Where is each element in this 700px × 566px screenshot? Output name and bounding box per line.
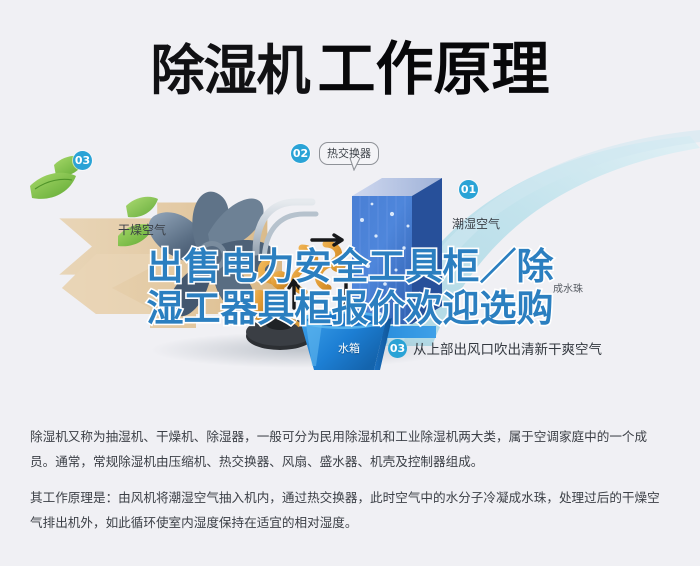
page-root: 除湿机工作原理 <box>0 0 700 566</box>
label-dry-air: 干燥空气 <box>118 221 166 238</box>
caption-text: 从上部出风口吹出清新干爽空气 <box>413 338 602 358</box>
body-paragraph-2: 其工作原理是：由风机将潮湿空气抽入机内，通过热交换器，此时空气中的水分子冷凝成水… <box>30 485 672 535</box>
badge-heat-exchanger: 02 <box>291 144 310 163</box>
diagram-caption: 03 从上部出风口吹出清新干爽空气 <box>388 338 602 358</box>
label-condensed-drops: 成水珠 <box>553 280 583 295</box>
label-water-tank: 水箱 <box>338 340 360 356</box>
page-title: 除湿机工作原理 <box>0 22 700 106</box>
badge-caption-03: 03 <box>388 339 407 358</box>
body-paragraph-1: 除湿机又称为抽湿机、干燥机、除湿器，一般可分为民用除湿机和工业除湿机两大类，属于… <box>30 424 672 474</box>
badge-dry-air: 03 <box>73 151 92 170</box>
badge-humid-air: 01 <box>459 180 478 199</box>
title-part-2: 工作原理 <box>317 35 549 103</box>
label-humid-air: 潮湿空气 <box>452 215 500 232</box>
callout-tail-icon <box>348 158 362 171</box>
title-part-1: 除湿机 <box>150 39 309 102</box>
dehumidifier-diagram: 03 干燥空气 02 热交换器 01 潮湿空气 水箱 成水珠 03 从上部出风口… <box>0 128 700 388</box>
